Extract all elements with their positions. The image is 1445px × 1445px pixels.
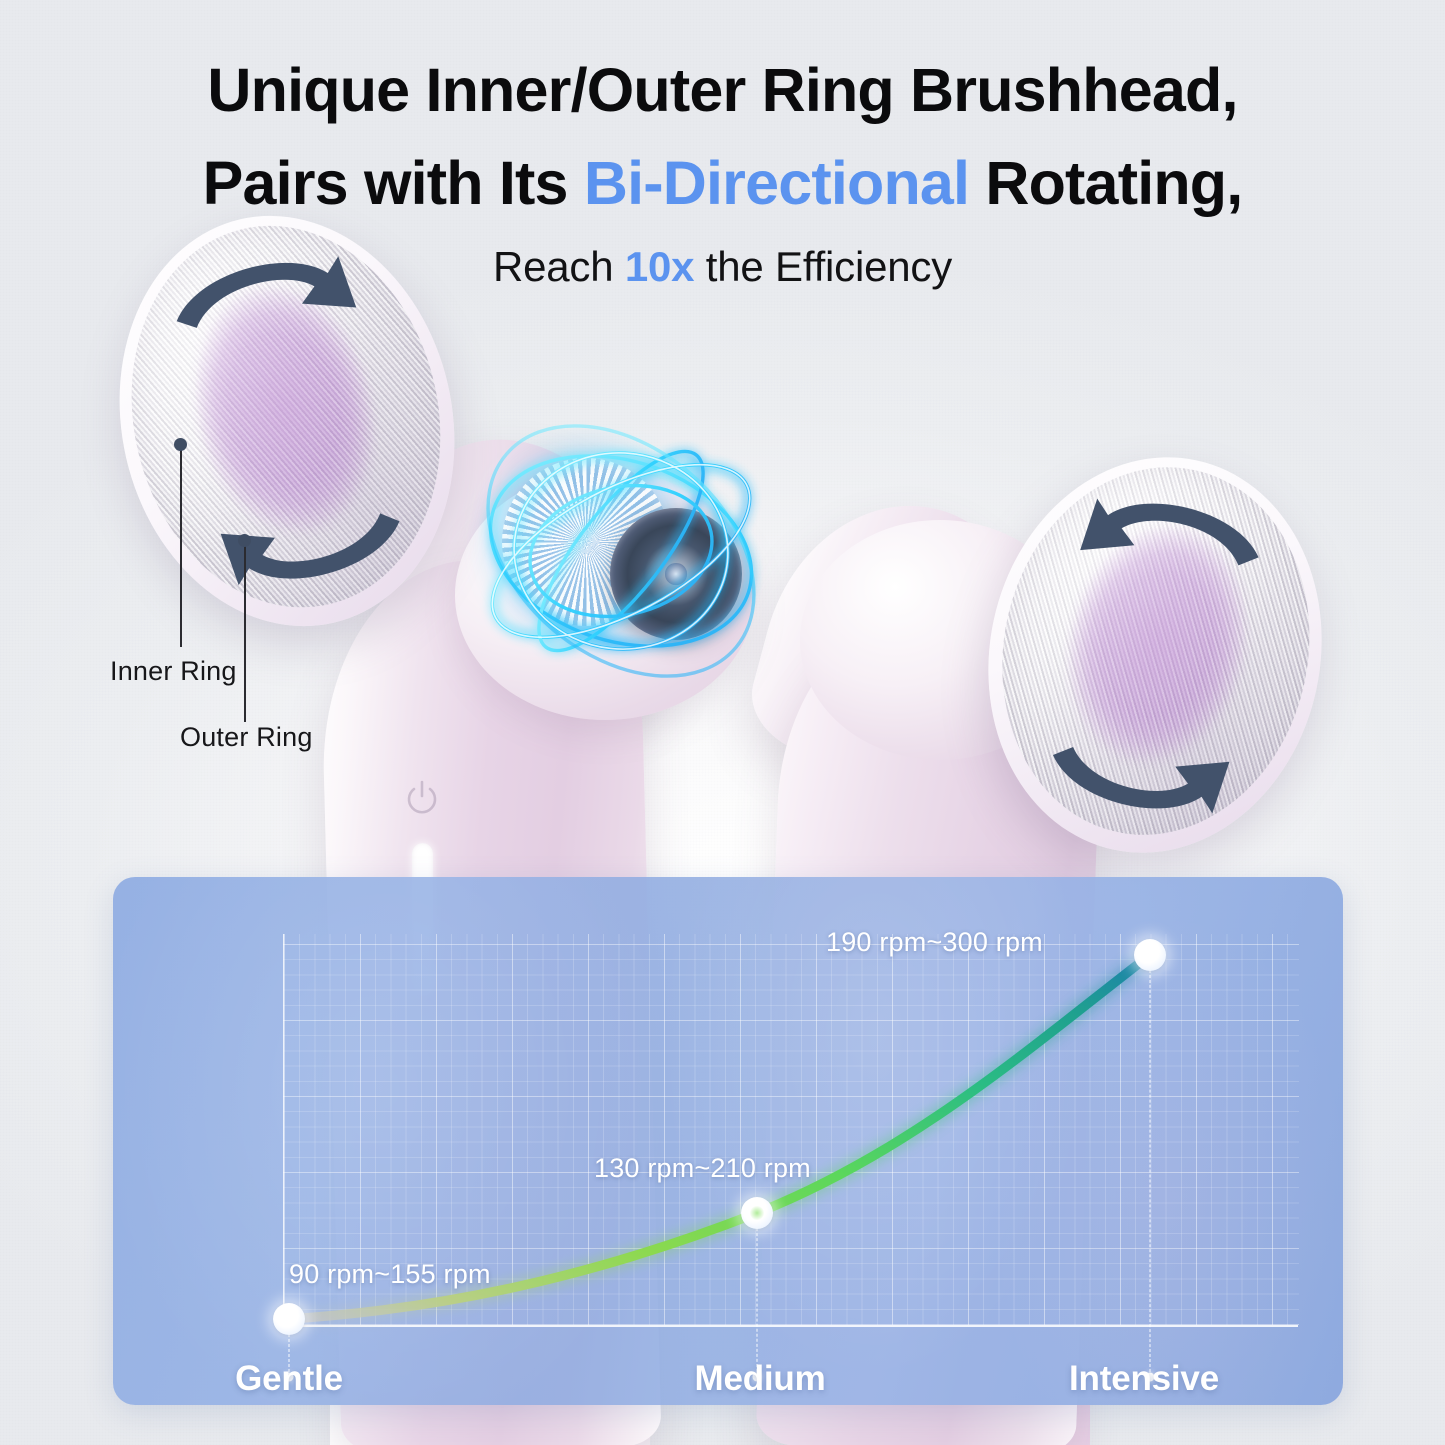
data-point-intensive[interactable] <box>1134 939 1166 971</box>
callout-inner-ring: Inner Ring <box>110 656 237 687</box>
axis-label-intensive: Intensive <box>1069 1359 1219 1399</box>
power-icon[interactable] <box>405 780 439 820</box>
motor-assembly <box>470 430 770 680</box>
product-infographic: Inner Ring Outer Ring Unique Inner/Outer… <box>0 0 1445 1445</box>
subline-part1: Reach <box>493 243 625 290</box>
data-point-medium[interactable] <box>741 1197 773 1229</box>
inner-ring-marker <box>174 438 187 451</box>
bi-directional-arrows-icon <box>952 426 1358 884</box>
rotation-glow-icon <box>436 386 816 726</box>
headline-line-1: Unique Inner/Outer Ring Brushhead, <box>0 44 1445 137</box>
rpm-chart-panel: 90 rpm~155 rpm 130 rpm~210 rpm 190 rpm~3… <box>113 877 1343 1405</box>
value-label-medium: 130 rpm~210 rpm <box>594 1153 811 1184</box>
headline-line2-part1: Pairs with Its <box>203 149 584 217</box>
inner-ring-leader-line <box>180 446 182 647</box>
medium-drop-line <box>757 1213 758 1377</box>
data-point-gentle[interactable] <box>273 1303 305 1335</box>
intensive-drop-line <box>1150 955 1151 1377</box>
subline-accent-10x: 10x <box>625 243 694 290</box>
outer-ring-marker <box>238 534 251 547</box>
value-label-gentle: 90 rpm~155 rpm <box>289 1259 491 1290</box>
value-label-intensive: 190 rpm~300 rpm <box>826 927 1043 958</box>
subline-part2: the Efficiency <box>694 243 952 290</box>
outer-ring-leader-line <box>244 542 246 722</box>
axis-label-gentle: Gentle <box>235 1359 343 1399</box>
headline-subline: Reach 10x the Efficiency <box>0 243 1445 291</box>
headline-block: Unique Inner/Outer Ring Brushhead, Pairs… <box>0 44 1445 291</box>
headline-line-2: Pairs with Its Bi-Directional Rotating, <box>0 137 1445 230</box>
right-brush-head <box>952 426 1358 884</box>
headline-line2-part2: Rotating, <box>969 149 1242 217</box>
callout-outer-ring: Outer Ring <box>180 722 313 753</box>
axis-label-medium: Medium <box>694 1359 825 1399</box>
headline-accent-bi-directional: Bi-Directional <box>584 149 969 217</box>
